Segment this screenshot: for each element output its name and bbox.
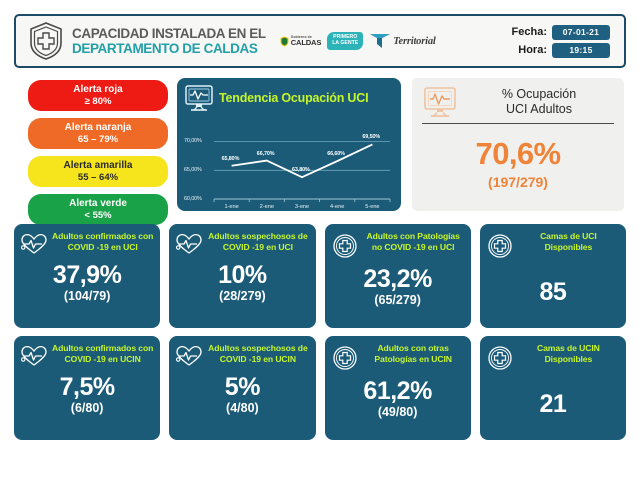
medical-cross-circle-icon [331,231,359,264]
card-value: 21 [486,392,620,417]
logo-group: Gobierno de CALDAS PRIMERO LA GENTE Terr… [280,32,436,49]
card-value: 85 [486,280,620,305]
chart-point-label: 63,80% [292,167,310,173]
card-header: Adultos confirmados con COVID -19 en UCI… [20,343,154,372]
alert-name: Alerta amarilla [64,160,133,171]
territorial-logo: Territorial [369,33,435,49]
alert-name: Alerta verde [69,198,127,209]
occupancy-panel: % Ocupación UCI Adultos 70,6% (197/279) [412,78,624,211]
card-fraction: (104/79) [20,289,154,303]
alert-name: Alerta roja [73,84,122,95]
card-fraction: (4/80) [175,401,309,415]
card-value: 10% [175,263,309,288]
date-row: Fecha: 07-01-21 [509,25,610,40]
metric-cards-grid: Adultos confirmados con COVID -19 en UCI… [14,224,626,440]
metric-card[interactable]: Camas de UCIN Disponibles 21 [480,336,626,440]
metric-card[interactable]: Adultos sospechosos de COVID -19 en UCIN… [169,336,315,440]
alert-range: ≥ 80% [30,96,166,107]
chart-point-label: 69,50% [362,134,380,140]
chart-point-label: 65,80% [222,156,240,162]
caldas-shield-icon [280,36,289,47]
title-line-1: CAPACIDAD INSTALADA EN EL [72,26,266,41]
card-label: Adultos confirmados con COVID -19 en UCI… [51,343,154,364]
territorial-logo-text: Territorial [393,36,435,47]
medical-cross-circle-icon [486,231,514,264]
monitor-heartbeat-icon [422,86,458,118]
title-line-2: DEPARTAMENTO DE CALDAS [72,41,266,56]
metric-card[interactable]: Adultos sospechosos de COVID -19 en UCI … [169,224,315,328]
medical-shield-icon [26,20,66,62]
card-header: Adultos confirmados con COVID -19 en UCI [20,231,154,260]
alert-item-amarilla: Alerta amarilla 55 – 64% [28,156,168,187]
card-label: Adultos con otras Patologías en UCIN [362,343,465,364]
card-label: Adultos con Patologías no COVID -19 en U… [362,231,465,252]
chart-x-tick-label: 1-ene [215,204,249,210]
alert-range: < 55% [30,210,166,221]
header-bar: CAPACIDAD INSTALADA EN EL DEPARTAMENTO D… [14,14,626,68]
metric-card[interactable]: Adultos con Patologías no COVID -19 en U… [325,224,471,328]
chart-y-tick-label: 70,00% [184,138,202,144]
chart-point-label: 66,60% [327,151,345,157]
page-title: CAPACIDAD INSTALADA EN EL DEPARTAMENTO D… [72,26,266,56]
occupancy-title: % Ocupación UCI Adultos [464,87,614,117]
metric-card[interactable]: Adultos con otras Patologías en UCIN 61,… [325,336,471,440]
metric-card[interactable]: Adultos confirmados con COVID -19 en UCI… [14,336,160,440]
heart-pulse-icon [175,343,203,372]
card-label: Camas de UCIN Disponibles [517,343,620,364]
metric-card-row-ucin: Adultos confirmados con COVID -19 en UCI… [14,336,626,440]
chart-y-tick-label: 65,00% [184,167,202,173]
metric-card[interactable]: Adultos confirmados con COVID -19 en UCI… [14,224,160,328]
dashboard-page: CAPACIDAD INSTALADA EN EL DEPARTAMENTO D… [0,0,640,481]
chart-plot-area: 70,00%65,00%60,00%65,80%66,70%63,80%66,6… [184,115,393,215]
occupancy-header: % Ocupación UCI Adultos [422,86,614,124]
card-value: 61,2% [331,379,465,404]
card-label: Adultos sospechosos de COVID -19 en UCIN [206,343,309,364]
card-value: 7,5% [20,375,154,400]
chart-x-tick-label: 4-ene [320,204,354,210]
alert-range: 65 – 79% [30,134,166,145]
chart-y-tick-label: 60,00% [184,196,202,202]
alert-item-naranja: Alerta naranja 65 – 79% [28,118,168,149]
chart-title: Tendencia Ocupación UCI [219,91,368,105]
alert-name: Alerta naranja [65,122,132,133]
time-value: 19:15 [552,43,610,58]
occupancy-title-line-1: % Ocupación [464,87,614,102]
chart-svg [184,115,393,215]
card-header: Camas de UCI Disponibles [486,231,620,264]
card-value: 37,9% [20,263,154,288]
monitor-heartbeat-icon [184,84,214,112]
card-value: 5% [175,375,309,400]
time-row: Hora: 19:15 [509,43,610,58]
heart-pulse-icon [175,231,203,260]
card-header: Adultos con Patologías no COVID -19 en U… [331,231,465,264]
card-fraction: (28/279) [175,289,309,303]
date-value: 07-01-21 [552,25,610,40]
card-header: Camas de UCIN Disponibles [486,343,620,376]
card-label: Adultos confirmados con COVID -19 en UCI [51,231,154,252]
alert-item-roja: Alerta roja ≥ 80% [28,80,168,111]
alert-item-verde: Alerta verde < 55% [28,194,168,225]
chart-header: Tendencia Ocupación UCI [184,84,393,112]
chart-x-tick-label: 5-ene [355,204,389,210]
gobierno-caldas-logo: Gobierno de CALDAS [280,36,321,47]
caldas-logo-big-text: CALDAS [291,39,321,46]
uci-trend-chart-panel: Tendencia Ocupación UCI 70,00%65,00%60,0… [177,78,401,211]
chart-x-tick-label: 3-ene [285,204,319,210]
card-header: Adultos con otras Patologías en UCIN [331,343,465,376]
metric-card[interactable]: Camas de UCI Disponibles 85 [480,224,626,328]
territorial-mark-icon [369,33,391,49]
occupancy-fraction: (197/279) [422,174,614,190]
metric-card-row-uci: Adultos confirmados con COVID -19 en UCI… [14,224,626,328]
occupancy-title-line-2: UCI Adultos [464,102,614,117]
card-fraction: (6/80) [20,401,154,415]
card-header: Adultos sospechosos de COVID -19 en UCI [175,231,309,260]
alert-legend: Alerta roja ≥ 80% Alerta naranja 65 – 79… [28,80,168,225]
card-header: Adultos sospechosos de COVID -19 en UCIN [175,343,309,372]
card-label: Camas de UCI Disponibles [517,231,620,252]
alert-range: 55 – 64% [30,172,166,183]
chart-x-tick-label: 2-ene [250,204,284,210]
time-label: Hora: [509,44,547,56]
date-label: Fecha: [509,26,547,38]
medical-cross-circle-icon [486,343,514,376]
chart-point-label: 66,70% [257,151,275,157]
primero-la-gente-logo: PRIMERO LA GENTE [327,32,363,49]
datetime-block: Fecha: 07-01-21 Hora: 19:15 [509,25,614,58]
occupancy-percent-value: 70,6% [422,136,614,172]
heart-pulse-icon [20,343,48,372]
card-value: 23,2% [331,267,465,292]
card-fraction: (65/279) [331,293,465,307]
gente-logo-line-2: LA GENTE [332,41,358,47]
card-label: Adultos sospechosos de COVID -19 en UCI [206,231,309,252]
card-fraction: (49/80) [331,405,465,419]
medical-cross-circle-icon [331,343,359,376]
heart-pulse-icon [20,231,48,260]
